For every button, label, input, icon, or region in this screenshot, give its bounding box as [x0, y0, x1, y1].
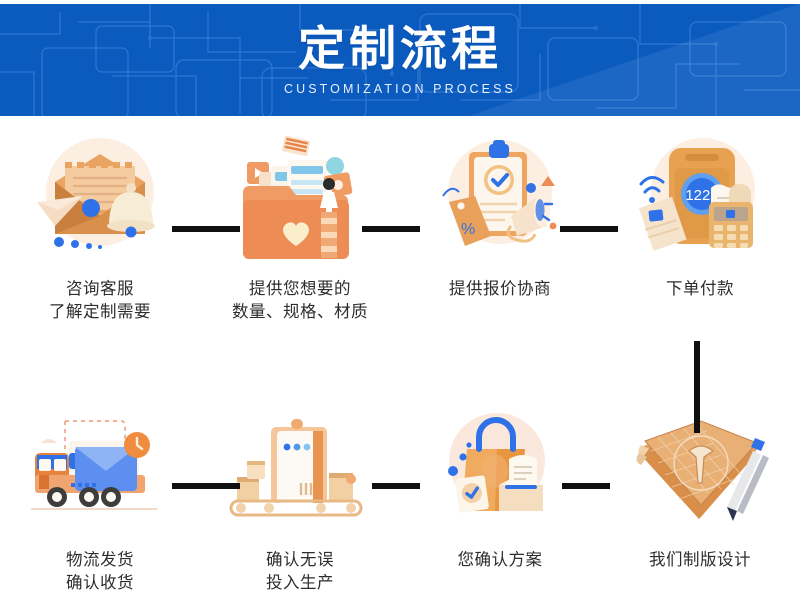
process-step-3-caption: 提供报价协商 [449, 278, 551, 301]
process-step-5-line1: 我们制版设计 [649, 551, 751, 569]
connector-step4-step5 [694, 341, 700, 433]
folder-documents-illustration [225, 130, 375, 270]
process-step-4-line1: 下单付款 [666, 280, 734, 298]
envelope-bell-illustration [25, 130, 175, 270]
process-step-5[interactable]: 我们制版设计 [600, 401, 800, 616]
process-step-1-line1: 咨询客服 [66, 280, 134, 298]
process-step-1-line2: 了解定制需要 [49, 301, 151, 324]
process-step-6-caption: 您确认方案 [458, 549, 543, 572]
connector-step1-step2 [172, 226, 240, 232]
process-step-4-caption: 下单付款 [666, 278, 734, 301]
process-step-8-line2: 确认收货 [66, 572, 134, 595]
process-step-1-caption: 咨询客服 了解定制需要 [49, 278, 151, 325]
page-title: 定制流程 [298, 25, 502, 72]
connector-step3-step4 [560, 226, 618, 232]
connector-step5-step6 [562, 483, 610, 489]
process-step-6[interactable]: 您确认方案 [400, 401, 600, 616]
process-row-bottom: 物流发货 确认收货 [0, 401, 800, 616]
process-row-top: 咨询客服 了解定制需要 [0, 130, 800, 345]
page-subtitle: CUSTOMIZATION PROCESS [284, 83, 516, 96]
page-header-banner: 定制流程 CUSTOMIZATION PROCESS [0, 4, 800, 116]
process-step-7-line1: 确认无误 [266, 551, 334, 569]
process-step-3[interactable]: % 提供报价协商 [400, 130, 600, 345]
process-step-8-line1: 物流发货 [66, 551, 134, 569]
svg-text:%: % [461, 221, 475, 238]
process-flow: 咨询客服 了解定制需要 [0, 116, 800, 609]
clipboard-megaphone-illustration: % [425, 130, 575, 270]
process-step-8-caption: 物流发货 确认收货 [66, 549, 134, 596]
process-step-1[interactable]: 咨询客服 了解定制需要 [0, 130, 200, 345]
process-step-2[interactable]: 提供您想要的 数量、规格、材质 [200, 130, 400, 345]
process-step-5-caption: 我们制版设计 [649, 549, 751, 572]
process-step-8[interactable]: 物流发货 确认收货 [0, 401, 200, 616]
delivery-truck-illustration [25, 401, 175, 541]
shopping-bag-check-illustration [425, 401, 575, 541]
process-step-2-line1: 提供您想要的 [249, 280, 351, 298]
process-step-3-line1: 提供报价协商 [449, 280, 551, 298]
conveyor-production-illustration [225, 401, 375, 541]
blueprint-pen-illustration [625, 401, 775, 541]
process-step-7-caption: 确认无误 投入生产 [266, 549, 334, 596]
process-step-4[interactable]: 1221 [600, 130, 800, 345]
connector-step2-step3 [362, 226, 420, 232]
process-step-7[interactable]: 确认无误 投入生产 [200, 401, 400, 616]
process-step-7-line2: 投入生产 [266, 572, 334, 595]
connector-step7-step8 [172, 483, 240, 489]
connector-step6-step7 [372, 483, 420, 489]
process-step-6-line1: 您确认方案 [458, 551, 543, 569]
process-step-2-caption: 提供您想要的 数量、规格、材质 [232, 278, 368, 325]
process-step-2-line2: 数量、规格、材质 [232, 301, 368, 324]
payment-terminal-illustration: 1221 [625, 130, 775, 270]
